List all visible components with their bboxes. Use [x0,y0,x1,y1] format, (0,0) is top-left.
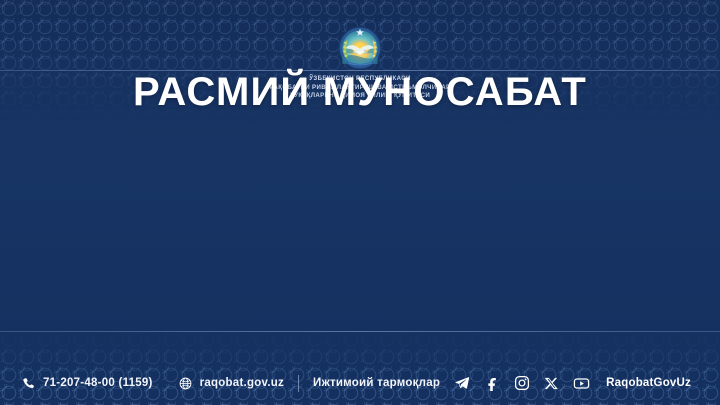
page-title: РАСМИЙ МУНОСАБАТ [133,70,587,115]
website-block[interactable]: raqobat.gov.uz [179,377,284,390]
phone-block[interactable]: 71-207-48-00 (1159) [22,377,153,390]
website-url: raqobat.gov.uz [200,377,284,389]
x-twitter-icon[interactable] [544,376,559,391]
phone-number: 71-207-48-00 (1159) [43,377,153,389]
youtube-icon[interactable] [573,375,590,392]
phone-icon [22,377,35,390]
slide-canvas: ЎЗБЕКИСТОН РЕСПУБЛИКАСИ РАҚОБАТНИ РИВОЖЛ… [0,0,720,405]
footer-separator [298,375,299,392]
telegram-icon[interactable] [454,375,470,391]
uzbekistan-state-emblem-icon [338,26,382,70]
social-networks-label: Ижтимоий тармоқлар [313,377,440,389]
instagram-icon[interactable] [514,375,530,391]
footer: 71-207-48-00 (1159) raqobat.gov.uz Ижтим… [0,361,720,405]
globe-icon [179,377,192,390]
facebook-icon[interactable] [484,375,500,391]
footer-divider-line [0,331,720,332]
social-handle[interactable]: RaqobatGovUz [606,377,691,389]
hero-section: РАСМИЙ МУНОСАБАТ [0,71,720,101]
social-icons-group [454,375,590,392]
